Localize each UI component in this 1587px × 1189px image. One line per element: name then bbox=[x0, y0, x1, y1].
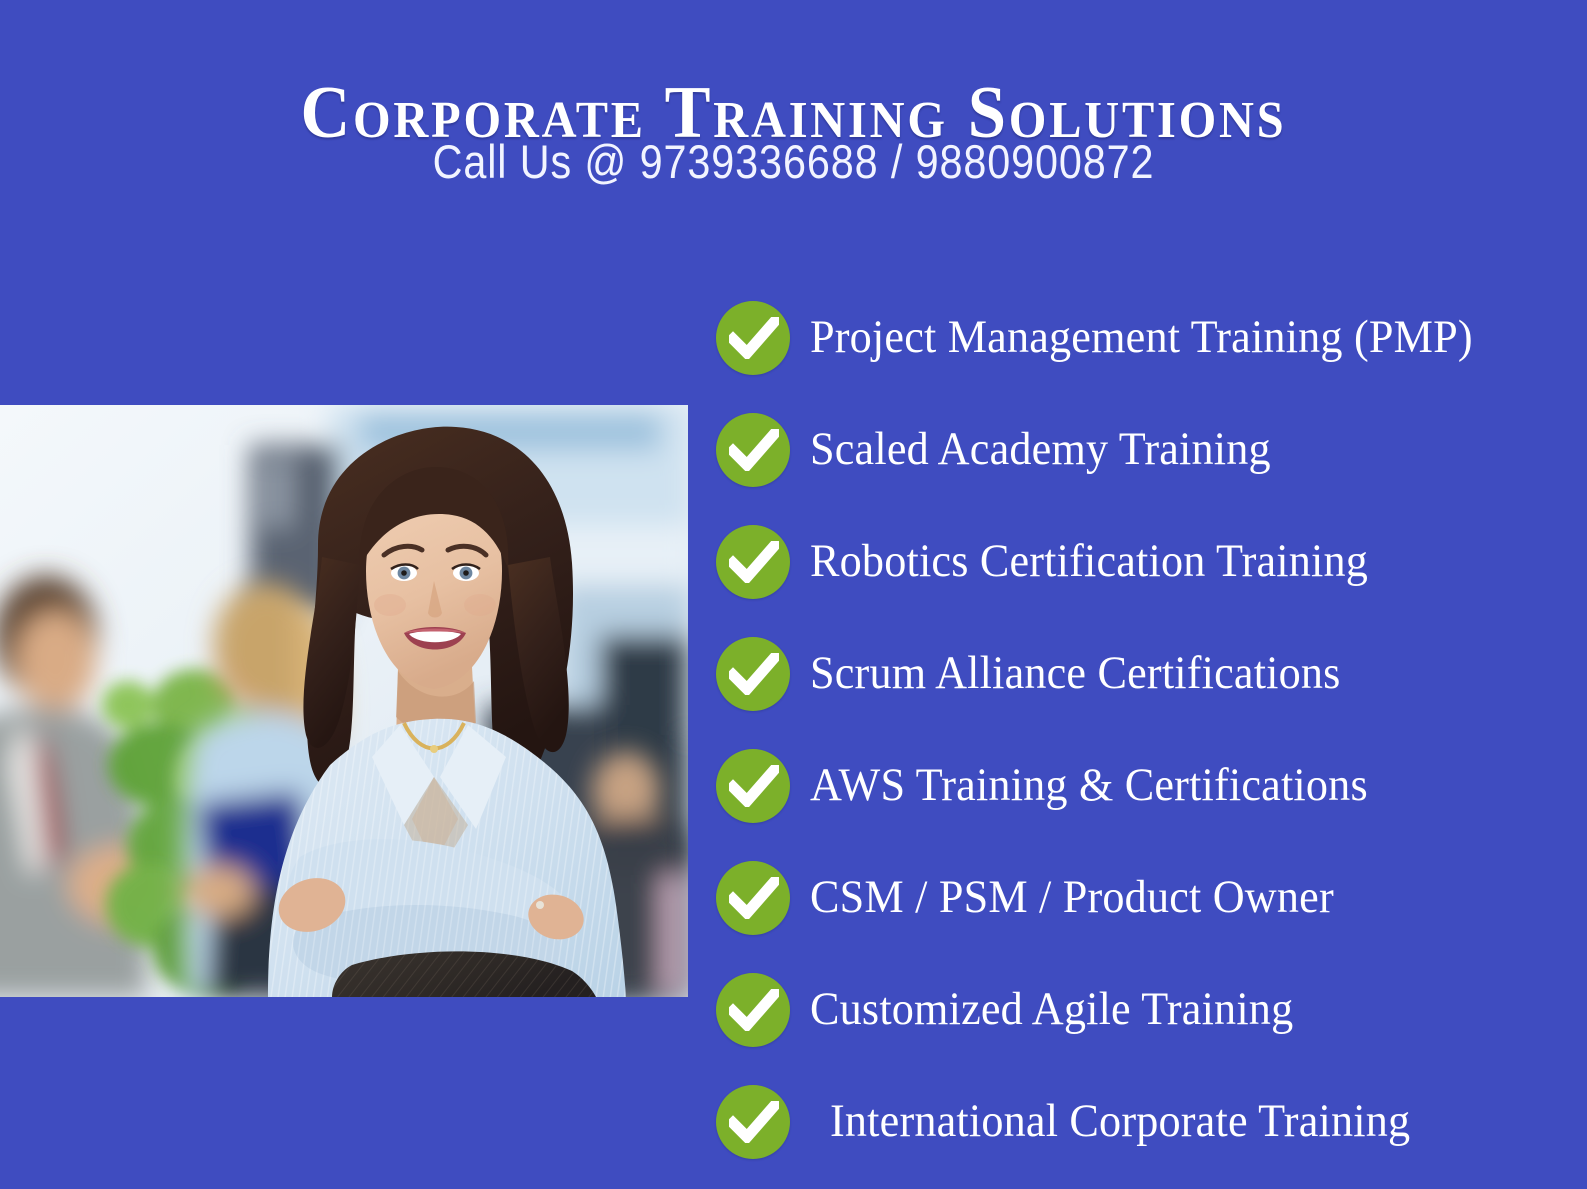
check-circle-icon bbox=[716, 861, 790, 935]
list-item[interactable]: Robotics Certification Training bbox=[716, 506, 1576, 618]
checkmark-glyph bbox=[729, 1101, 779, 1143]
list-item-label: International Corporate Training bbox=[830, 1097, 1410, 1146]
checkmark-glyph bbox=[729, 429, 779, 471]
contact-phone-line: Call Us @ 9739336688 / 9880900872 bbox=[95, 138, 1492, 185]
checkmark-glyph bbox=[729, 877, 779, 919]
services-list: Project Management Training (PMP) Scaled… bbox=[716, 282, 1576, 1178]
check-circle-icon bbox=[716, 301, 790, 375]
list-item[interactable]: Customized Agile Training bbox=[716, 954, 1576, 1066]
list-item[interactable]: AWS Training & Certifications bbox=[716, 730, 1576, 842]
list-item-label: Scrum Alliance Certifications bbox=[810, 649, 1341, 698]
checkmark-glyph bbox=[729, 317, 779, 359]
poster-canvas: Corporate Training Solutions Call Us @ 9… bbox=[0, 0, 1587, 1189]
list-item[interactable]: CSM / PSM / Product Owner bbox=[716, 842, 1576, 954]
check-circle-icon bbox=[716, 525, 790, 599]
list-item-label: Customized Agile Training bbox=[810, 985, 1293, 1034]
list-item-label: CSM / PSM / Product Owner bbox=[810, 873, 1334, 922]
list-item[interactable]: Project Management Training (PMP) bbox=[716, 282, 1576, 394]
list-item-label: AWS Training & Certifications bbox=[810, 761, 1368, 810]
list-item-label: Scaled Academy Training bbox=[810, 425, 1271, 474]
list-item[interactable]: International Corporate Training bbox=[716, 1066, 1576, 1178]
check-circle-icon bbox=[716, 749, 790, 823]
checkmark-glyph bbox=[729, 653, 779, 695]
list-item[interactable]: Scaled Academy Training bbox=[716, 394, 1576, 506]
checkmark-glyph bbox=[729, 989, 779, 1031]
check-circle-icon bbox=[716, 637, 790, 711]
list-item-label: Robotics Certification Training bbox=[810, 537, 1368, 586]
check-circle-icon bbox=[716, 973, 790, 1047]
list-item[interactable]: Scrum Alliance Certifications bbox=[716, 618, 1576, 730]
check-circle-icon bbox=[716, 413, 790, 487]
list-item-label: Project Management Training (PMP) bbox=[810, 313, 1473, 362]
check-circle-icon bbox=[716, 1085, 790, 1159]
checkmark-glyph bbox=[729, 765, 779, 807]
hero-photo bbox=[0, 405, 688, 997]
office-scene-illustration bbox=[0, 405, 688, 997]
checkmark-glyph bbox=[729, 541, 779, 583]
